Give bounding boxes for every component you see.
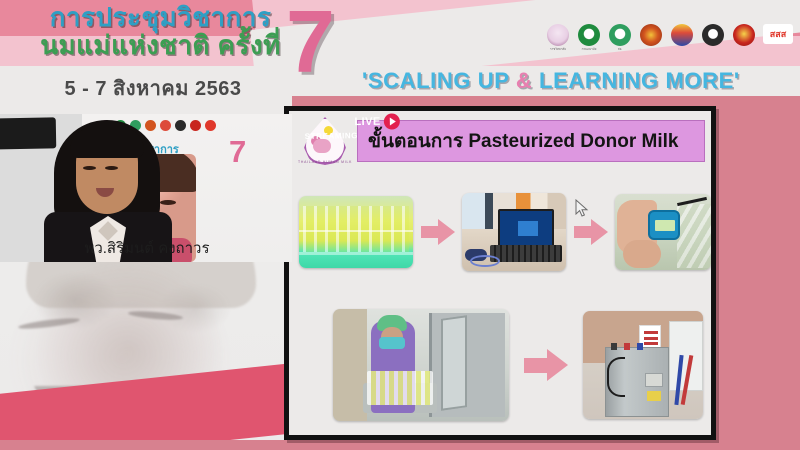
conference-title-line1: การประชุมวิชาการ bbox=[28, 4, 293, 31]
speaker-eye-right bbox=[105, 166, 118, 170]
laptop-keyboard bbox=[490, 245, 562, 262]
machine-controls bbox=[611, 343, 655, 350]
tagline-part2: LEARNING MORE' bbox=[532, 68, 739, 93]
process-row-2 bbox=[333, 309, 703, 421]
university-mark bbox=[702, 24, 724, 46]
nurse-mask bbox=[379, 337, 405, 349]
royal-college-logo: ราชวิทยาลัย bbox=[545, 24, 571, 54]
live-label: LIVE bbox=[354, 116, 381, 128]
crate-bottles bbox=[303, 206, 409, 252]
crate-shelf-2 bbox=[299, 252, 413, 255]
slide-title: ขั้นตอนการ Pasteurized Donor Milk bbox=[368, 126, 678, 156]
tagline-ampersand: & bbox=[516, 68, 533, 93]
presentation-slide-panel: THAILAND HUMAN MILK BANK ขั้นตอนการ Past… bbox=[284, 106, 716, 440]
nurse-milk-bottles bbox=[367, 371, 433, 405]
watermark-eye-right bbox=[128, 310, 183, 322]
live-streaming-badge: LIVE STREAMING bbox=[0, 117, 56, 149]
photo-milk-crates bbox=[299, 196, 413, 268]
thai-breastfeeding-mark bbox=[733, 24, 755, 46]
speaker-name: พว.สิริมนต์ คงถาวร bbox=[22, 236, 272, 260]
slide-title-banner: ขั้นตอนการ Pasteurized Donor Milk bbox=[357, 120, 705, 162]
laptop-cable bbox=[470, 255, 500, 267]
conference-title: การประชุมวิชาการ นมแม่แห่งชาติ ครั้งที่ bbox=[28, 4, 293, 58]
nurse-cabinet-door bbox=[441, 315, 467, 411]
probe-milk-bags bbox=[677, 204, 711, 268]
sss-mark: สสส bbox=[763, 24, 793, 44]
watermark-eye-left bbox=[18, 316, 80, 331]
ministry-health-mark bbox=[578, 24, 600, 46]
arrow-2-head bbox=[591, 219, 608, 245]
tagline-part1: 'SCALING UP bbox=[362, 68, 516, 93]
university-logo bbox=[700, 24, 726, 54]
ministry-health-logo: กรมอนามัย bbox=[576, 24, 602, 54]
emblem-mark bbox=[640, 24, 662, 46]
photo-pasteurizer-machine bbox=[583, 311, 703, 419]
play-icon bbox=[384, 113, 400, 129]
process-row-1 bbox=[299, 193, 711, 271]
arrow-1 bbox=[421, 219, 455, 245]
milk-drop-ring-text: THAILAND HUMAN MILK BANK bbox=[298, 155, 352, 169]
photo-temperature-probe bbox=[615, 194, 711, 270]
conference-tagline: 'SCALING UP & LEARNING MORE' bbox=[362, 68, 740, 94]
royal-emblem-logo bbox=[669, 24, 695, 54]
royal-college-caption: ราชวิทยาลัย bbox=[550, 47, 566, 52]
emblem-logo bbox=[638, 24, 664, 54]
mouse-cursor bbox=[575, 199, 589, 219]
public-health-caption: สธ. bbox=[618, 47, 623, 52]
machine-power-cord bbox=[607, 357, 625, 397]
probe-thermometer bbox=[648, 210, 680, 240]
nurse-wall bbox=[333, 309, 367, 421]
conference-title-line2: นมแม่แห่งชาติ ครั้งที่ bbox=[28, 32, 293, 59]
conference-edition-number: 7 bbox=[286, 0, 335, 86]
arrow-3-head bbox=[547, 349, 568, 381]
machine-display bbox=[645, 373, 663, 387]
laptop-screen bbox=[498, 209, 554, 247]
sss-logo: สสส bbox=[762, 24, 794, 54]
thai-breastfeeding-logo bbox=[731, 24, 757, 54]
arrow-2 bbox=[574, 219, 608, 245]
background-right-pink bbox=[716, 96, 800, 450]
probe-hand-lower bbox=[623, 240, 661, 268]
photo-laptop-workstation bbox=[462, 193, 566, 271]
slide-content: THAILAND HUMAN MILK BANK ขั้นตอนการ Past… bbox=[289, 111, 711, 435]
speaker-eye-left bbox=[83, 166, 96, 170]
conference-dates: 5 - 7 สิงหาคม 2563 bbox=[28, 72, 278, 104]
machine-sticker bbox=[647, 391, 661, 401]
ministry-health-caption: กรมอนามัย bbox=[582, 47, 597, 52]
public-health-logo: สธ. bbox=[607, 24, 633, 54]
arrow-1-head bbox=[438, 219, 455, 245]
sponsor-logo-row: ราชวิทยาลัย กรมอนามัย สธ. สสส bbox=[545, 24, 794, 54]
public-health-mark bbox=[609, 24, 631, 46]
royal-emblem-mark bbox=[671, 24, 693, 46]
background-bottom-pink bbox=[0, 440, 800, 450]
crate-shelf-1 bbox=[299, 230, 413, 232]
screen-root: การประชุมวิชาการ นมแม่แห่งชาติ ครั้งที่ … bbox=[0, 0, 800, 450]
photo-nurse-loading-bottles bbox=[333, 309, 509, 421]
royal-college-mark bbox=[547, 24, 569, 46]
arrow-3 bbox=[524, 349, 568, 381]
